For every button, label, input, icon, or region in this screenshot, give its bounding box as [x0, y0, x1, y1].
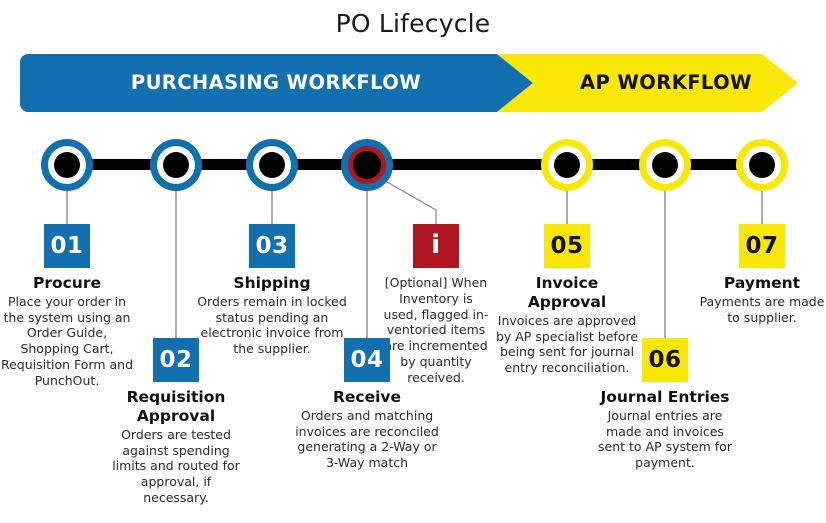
step-number-badge: 01	[44, 224, 90, 268]
node-receive-alert[interactable]	[341, 139, 393, 191]
step-description: Orders are tested against spending limit…	[110, 427, 242, 506]
step-number-badge: 06	[642, 338, 688, 382]
node-core	[554, 152, 580, 178]
step-journal-entries: 06 Journal Entries Journal entries are m…	[595, 338, 735, 471]
step-description: Journal entries are made and invoices se…	[595, 408, 735, 471]
page-title: PO Lifecycle	[0, 9, 826, 38]
step-receive: 04 Receive Orders and matching invoices …	[290, 338, 444, 471]
step-number-badge: 07	[739, 224, 785, 268]
node-payment[interactable]	[736, 139, 788, 191]
step-description: Orders and matching invoices are reconci…	[290, 408, 444, 471]
info-icon: i	[413, 224, 459, 268]
step-payment: 07 Payment Payments are made to supplier…	[692, 224, 826, 325]
step-title: Journal Entries	[595, 388, 735, 407]
node-shipping[interactable]	[246, 139, 298, 191]
po-lifecycle-infographic: PO Lifecycle PURCHASING WORKFLOW AP WORK…	[0, 0, 826, 523]
node-core	[353, 151, 381, 179]
step-shipping: 03 Shipping Orders remain in locked stat…	[190, 224, 354, 357]
step-title: Procure	[0, 274, 134, 293]
step-number-badge: 04	[344, 338, 390, 382]
node-core	[259, 152, 285, 178]
node-journal-entries[interactable]	[639, 139, 691, 191]
step-title: Requisition Approval	[110, 388, 242, 426]
step-title: Invoice Approval	[495, 274, 639, 312]
ap-workflow-label: AP WORKFLOW	[534, 52, 798, 114]
step-title: Receive	[290, 388, 444, 407]
node-invoice-approval[interactable]	[541, 139, 593, 191]
node-requisition-approval[interactable]	[150, 139, 202, 191]
node-core	[163, 152, 189, 178]
step-number-badge: 03	[249, 224, 295, 268]
node-procure[interactable]	[41, 139, 93, 191]
step-title: Shipping	[190, 274, 354, 293]
step-description: Payments are made to supplier.	[692, 294, 826, 326]
workflow-banner: PURCHASING WORKFLOW AP WORKFLOW	[0, 52, 826, 114]
step-number-badge: 05	[544, 224, 590, 268]
step-title: Payment	[692, 274, 826, 293]
node-core	[749, 152, 775, 178]
step-requisition-approval: 02 Requisition Approval Orders are teste…	[110, 338, 242, 506]
purchasing-workflow-label: PURCHASING WORKFLOW	[20, 52, 532, 114]
node-core	[652, 152, 678, 178]
node-core	[54, 152, 80, 178]
